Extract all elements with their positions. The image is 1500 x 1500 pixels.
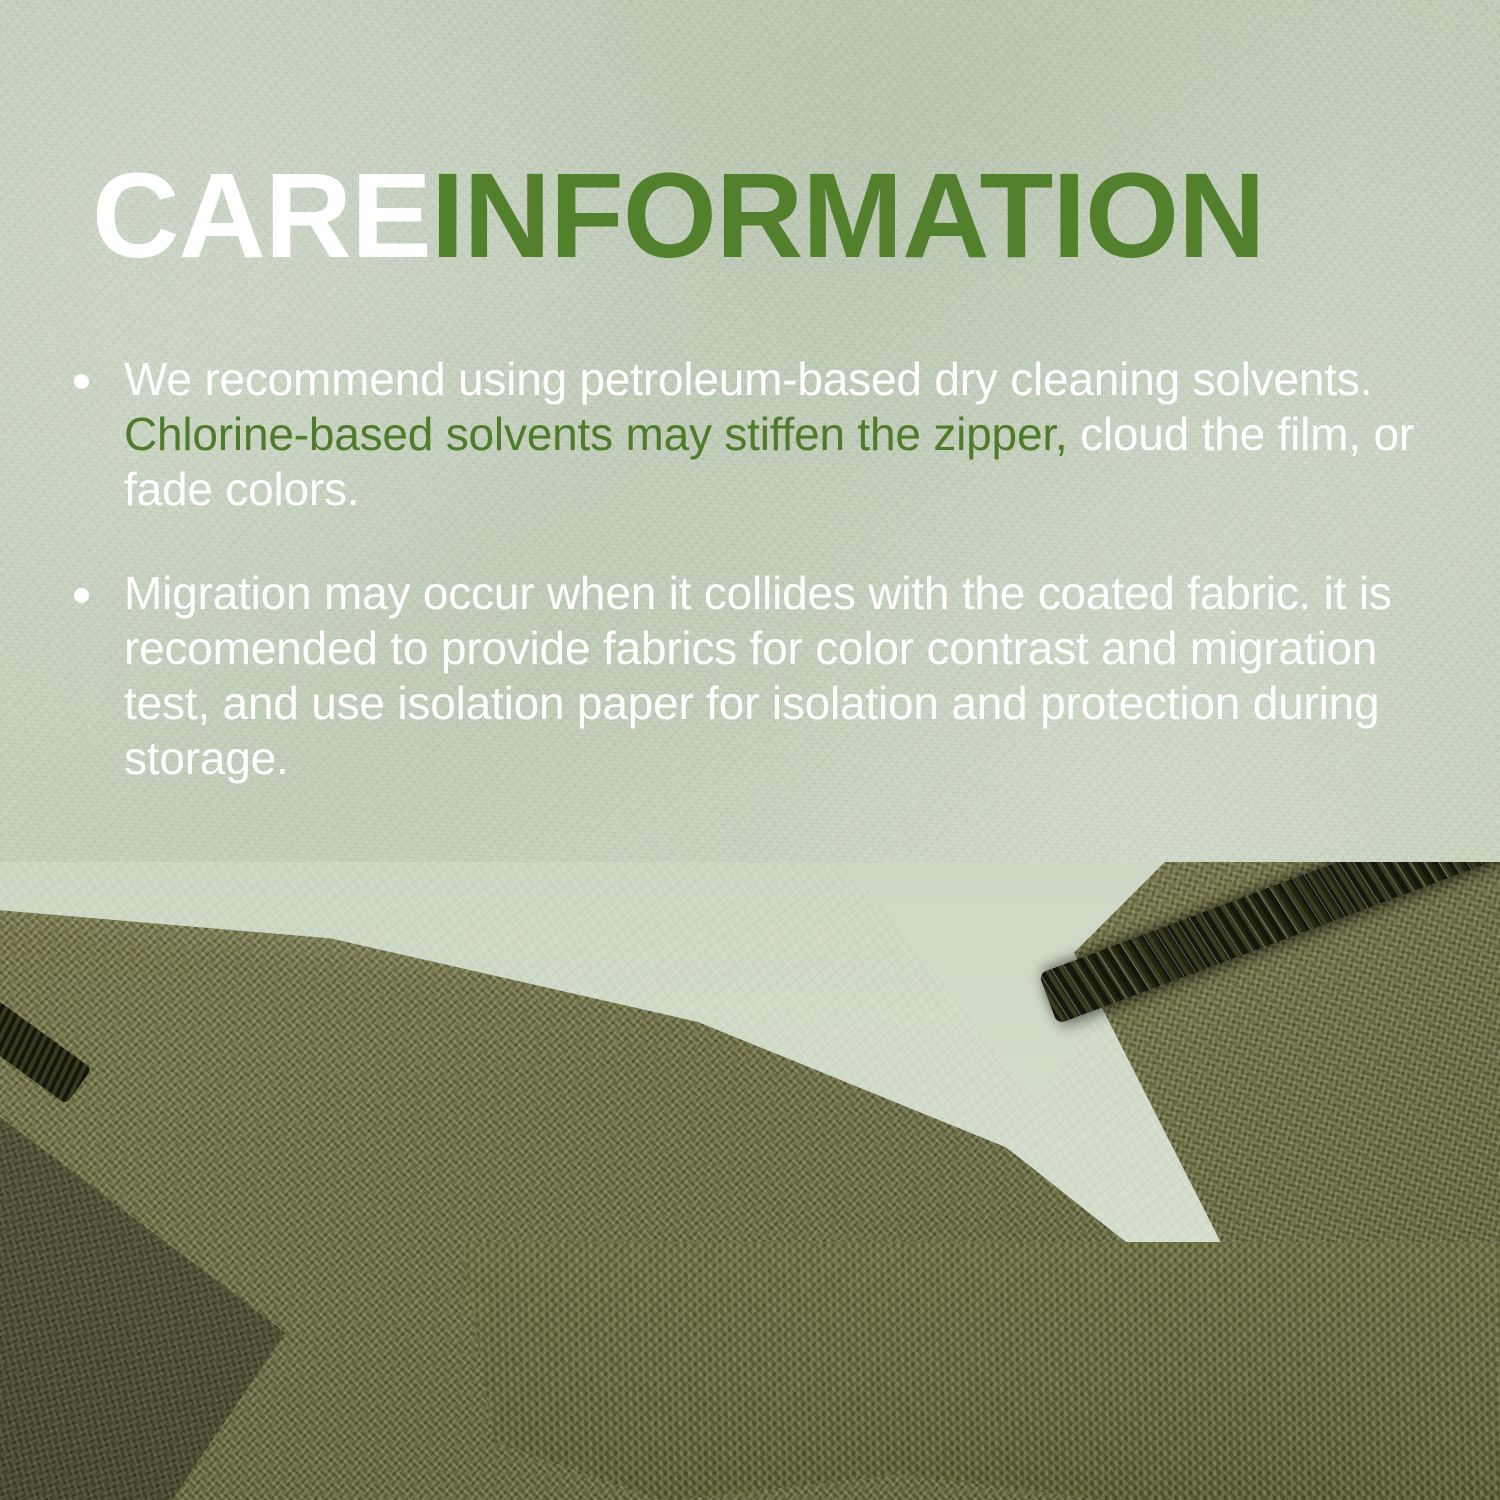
care-text-segment-highlight: Chlorine-based solvents may stiffen the … bbox=[124, 408, 1067, 460]
page-title-information: INFORMATION bbox=[431, 147, 1265, 283]
care-instructions-list: We recommend using petroleum-based dry c… bbox=[62, 352, 1462, 786]
bullet-point-icon bbox=[74, 374, 89, 389]
bullet-point-icon bbox=[74, 588, 89, 603]
zipper-tape-lower-fold bbox=[430, 1242, 1500, 1500]
page-title: CAREINFORMATION bbox=[92, 155, 1265, 276]
care-text-segment: We recommend using petroleum-based dry c… bbox=[124, 353, 1372, 405]
zipper-product-photo bbox=[0, 862, 1500, 1500]
care-instruction-item: We recommend using petroleum-based dry c… bbox=[62, 352, 1462, 518]
care-text-segment: Migration may occur when it collides wit… bbox=[124, 567, 1392, 785]
care-information-card: CAREINFORMATION We recommend using petro… bbox=[0, 0, 1500, 1500]
care-instruction-item: Migration may occur when it collides wit… bbox=[62, 566, 1462, 787]
page-title-care: CARE bbox=[92, 147, 431, 283]
